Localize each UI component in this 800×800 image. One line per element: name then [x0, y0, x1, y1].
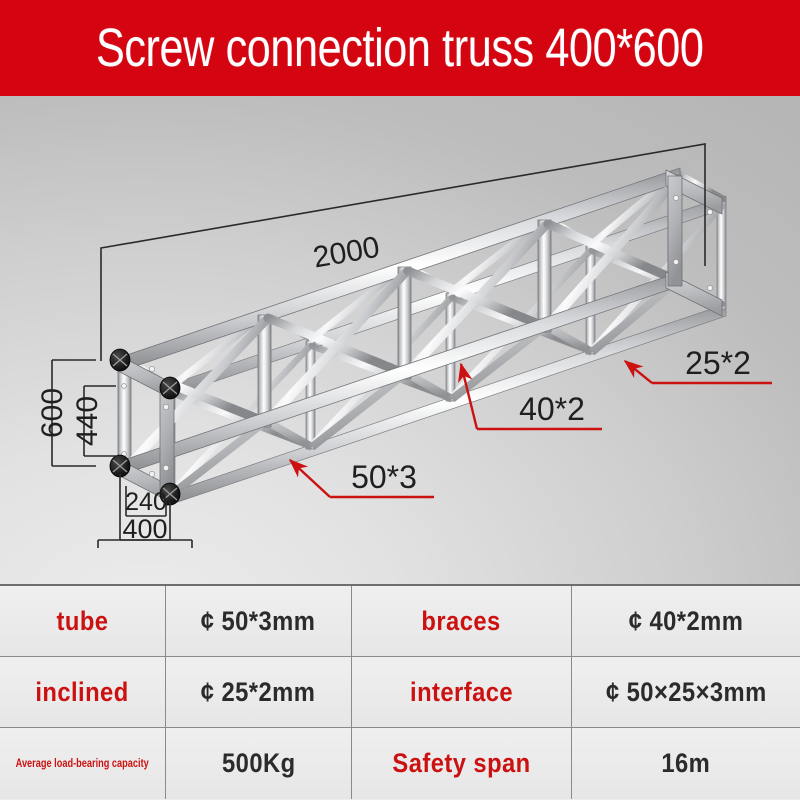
- spec-table: tube ¢ 50*3mm braces ¢ 40*2mm inclined ¢…: [0, 584, 800, 800]
- cell-value-braces: ¢ 40*2mm: [572, 586, 800, 656]
- truss-bottom-lacing: [126, 281, 723, 494]
- cell-value-safety-span: 16m: [572, 728, 800, 799]
- callout-brace: 40*2: [519, 391, 585, 427]
- cell-value-interface: ¢ 50×25×3mm: [572, 657, 800, 727]
- table-row: tube ¢ 50*3mm braces ¢ 40*2mm: [0, 586, 800, 657]
- cell-label-interface: interface: [352, 657, 572, 727]
- spec-value: ¢ 50*3mm: [201, 606, 315, 637]
- truss-illustration: 2000 600 440 240 400 50*3 40*2: [0, 96, 800, 584]
- page-title: Screw connection truss 400*600: [96, 21, 704, 75]
- spec-value: ¢ 40*2mm: [629, 606, 743, 637]
- cell-label-inclined: inclined: [0, 657, 166, 727]
- product-spec-image: Screw connection truss 400*600: [0, 0, 800, 800]
- cell-label-braces: braces: [352, 586, 572, 656]
- callout-main-chord: 50*3: [351, 459, 417, 495]
- spec-value: 500Kg: [222, 748, 296, 779]
- dim-length-2000: 2000: [311, 231, 382, 275]
- spec-label: Average load-bearing capacity: [16, 758, 149, 770]
- truss-diagram: 2000 600 440 240 400 50*3 40*2: [0, 96, 800, 584]
- table-row: inclined ¢ 25*2mm interface ¢ 50×25×3mm: [0, 657, 800, 728]
- cell-label-safety-span: Safety span: [352, 728, 572, 799]
- cell-label-tube: tube: [0, 586, 166, 656]
- dim-width-400: 400: [122, 514, 167, 544]
- cell-value-load-capacity: 500Kg: [166, 728, 352, 799]
- dim-height-600: 600: [36, 388, 69, 438]
- spec-label: interface: [410, 677, 513, 708]
- callout-inclined: 25*2: [685, 345, 751, 381]
- cell-value-inclined: ¢ 25*2mm: [166, 657, 352, 727]
- cell-value-tube: ¢ 50*3mm: [166, 586, 352, 656]
- spec-value: 16m: [662, 748, 711, 779]
- dim-inner-height-440: 440: [71, 396, 104, 446]
- dim-inner-width-240: 240: [125, 488, 167, 516]
- table-row: Average load-bearing capacity 500Kg Safe…: [0, 728, 800, 799]
- header-banner: Screw connection truss 400*600: [0, 0, 800, 96]
- spec-label: braces: [422, 606, 501, 637]
- spec-label: inclined: [36, 677, 129, 708]
- spec-value: ¢ 25*2mm: [201, 677, 315, 708]
- cell-label-load-capacity: Average load-bearing capacity: [0, 728, 166, 799]
- spec-value: ¢ 50×25×3mm: [606, 677, 767, 708]
- spec-label: Safety span: [392, 748, 530, 779]
- spec-label: tube: [57, 606, 109, 637]
